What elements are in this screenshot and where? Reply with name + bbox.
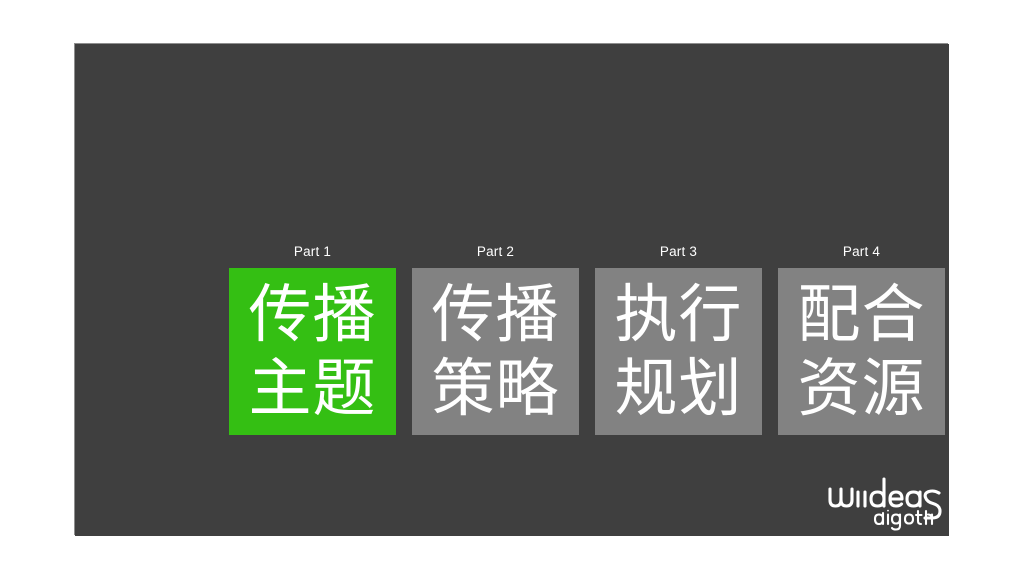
- agenda-tile-3-line-2: 规划: [615, 352, 743, 426]
- agenda-section-part-4[interactable]: Part 4 配合 资源: [778, 244, 945, 435]
- agenda-tile-3[interactable]: 执行 规划: [595, 268, 762, 435]
- agenda-tile-4[interactable]: 配合 资源: [778, 268, 945, 435]
- logo-mark-icon: [826, 473, 946, 535]
- agenda-tile-1-line-1: 传播: [249, 278, 377, 352]
- agenda-tile-4-line-1: 配合: [798, 278, 926, 352]
- agenda-tile-2-line-1: 传播: [432, 278, 560, 352]
- agenda-section-part-1[interactable]: Part 1 传播 主题: [229, 244, 396, 435]
- part-label-2: Part 2: [477, 244, 514, 260]
- agenda-tile-2[interactable]: 传播 策略: [412, 268, 579, 435]
- agenda-section-part-2[interactable]: Part 2 传播 策略: [412, 244, 579, 435]
- agenda-section-part-3[interactable]: Part 3 执行 规划: [595, 244, 762, 435]
- slide-canvas: Part 1 传播 主题 Part 2 传播 策略 Part 3 执行: [0, 0, 1024, 576]
- wiideas-digital-logo: [826, 473, 946, 535]
- presentation-slide: Part 1 传播 主题 Part 2 传播 策略 Part 3 执行: [75, 44, 949, 536]
- part-label-1: Part 1: [294, 244, 331, 260]
- agenda-sections-row: Part 1 传播 主题 Part 2 传播 策略 Part 3 执行: [229, 244, 945, 439]
- agenda-tile-1[interactable]: 传播 主题: [229, 268, 396, 435]
- agenda-tile-2-line-2: 策略: [432, 352, 560, 426]
- part-label-4: Part 4: [843, 244, 880, 260]
- agenda-tile-3-line-1: 执行: [615, 278, 743, 352]
- agenda-tile-1-line-2: 主题: [249, 352, 377, 426]
- agenda-tile-4-line-2: 资源: [798, 352, 926, 426]
- part-label-3: Part 3: [660, 244, 697, 260]
